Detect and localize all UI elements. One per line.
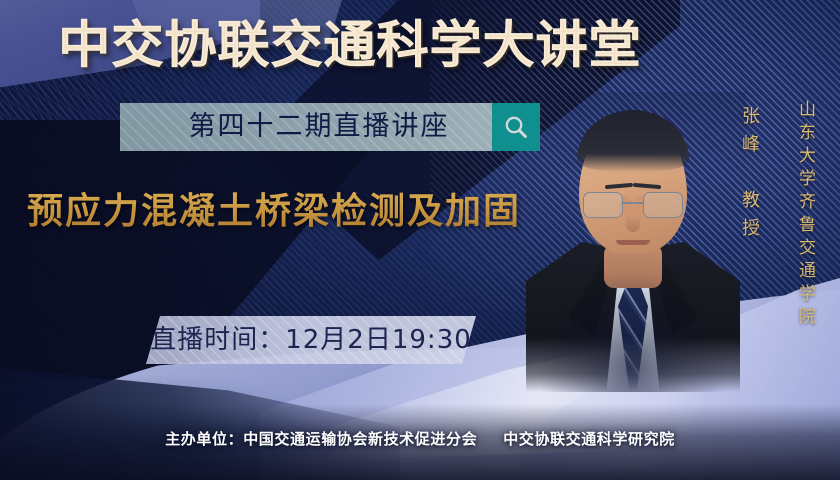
speaker-institution: 山东大学齐鲁交通学院 xyxy=(793,100,818,330)
speaker-name-spacer xyxy=(739,162,760,190)
speaker-name-title: 张峰 教授 xyxy=(736,106,762,246)
speaker-portrait xyxy=(520,92,746,392)
lecture-topic: 预应力混凝土桥梁检测及加固 xyxy=(24,188,524,236)
broadcast-time-banner: 直播时间：12月2日19:30 xyxy=(146,316,476,364)
footer-organizer-primary: 主办单位：中国交通运输协会新技术促进分会 xyxy=(165,430,477,448)
footer-organizers: 主办单位：中国交通运输协会新技术促进分会中交协联交通科学研究院 xyxy=(0,428,840,450)
speaker-name: 张峰 xyxy=(739,106,760,162)
search-icon[interactable] xyxy=(492,103,540,151)
episode-banner: 第四十二期直播讲座 xyxy=(120,103,540,151)
episode-label: 第四十二期直播讲座 xyxy=(120,103,492,151)
portrait-fade-overlay xyxy=(520,92,746,392)
speaker-title: 教授 xyxy=(739,190,760,246)
live-lecture-poster: 中交协联交通科学大讲堂 第四十二期直播讲座 预应力混凝土桥梁检测及加固 直播时间… xyxy=(0,0,840,480)
footer-organizer-secondary: 中交协联交通科学研究院 xyxy=(503,430,675,448)
page-title: 中交协联交通科学大讲堂 xyxy=(0,14,714,76)
broadcast-time-label: 直播时间：12月2日19:30 xyxy=(150,316,472,364)
